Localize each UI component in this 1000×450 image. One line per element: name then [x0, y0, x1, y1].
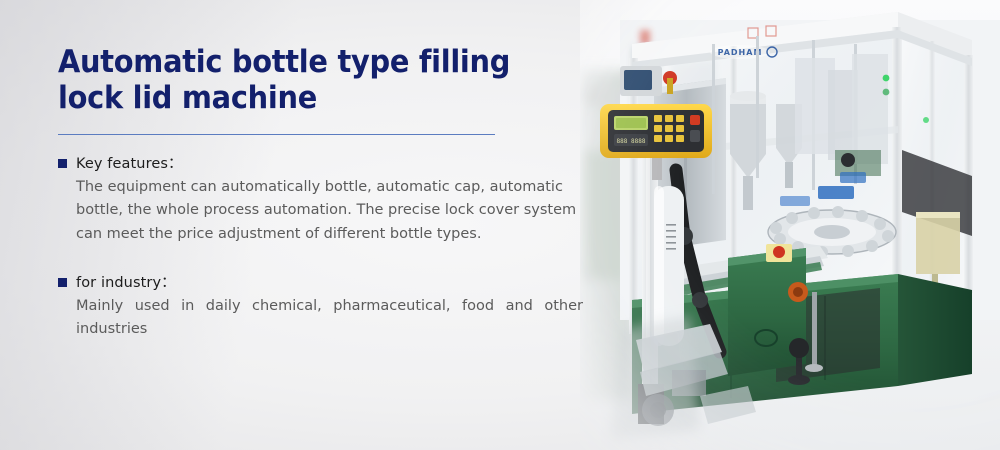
svg-text:PADHAM: PADHAM — [718, 48, 763, 57]
feature-heading-label: Key features： — [76, 152, 183, 173]
feature-block-for-industry: for industry： Mainly used in daily chemi… — [58, 271, 618, 342]
page-title-line-2: lock lid machine — [58, 80, 495, 116]
banner-copy: Automatic bottle type filling lock lid m… — [58, 44, 618, 342]
square-bullet-icon — [58, 278, 67, 287]
machine-photo: PADHAM — [580, 0, 1000, 450]
title-divider — [58, 134, 495, 135]
banner-background: PADHAM — [0, 0, 1000, 450]
svg-text:888 8888: 888 8888 — [617, 138, 646, 145]
industry-heading-label: for industry： — [76, 271, 176, 292]
page-title-line-1: Automatic bottle type filling — [58, 44, 495, 80]
industry-body-text: Mainly used in daily chemical, pharmaceu… — [58, 295, 583, 342]
feature-body-text: The equipment can automatically bottle, … — [58, 176, 583, 246]
feature-heading-row: Key features： — [58, 152, 618, 173]
feature-block-key-features: Key features： The equipment can automati… — [58, 152, 618, 246]
industry-heading-row: for industry： — [58, 271, 618, 292]
square-bullet-icon — [58, 159, 67, 168]
page-title: Automatic bottle type filling lock lid m… — [58, 44, 495, 117]
